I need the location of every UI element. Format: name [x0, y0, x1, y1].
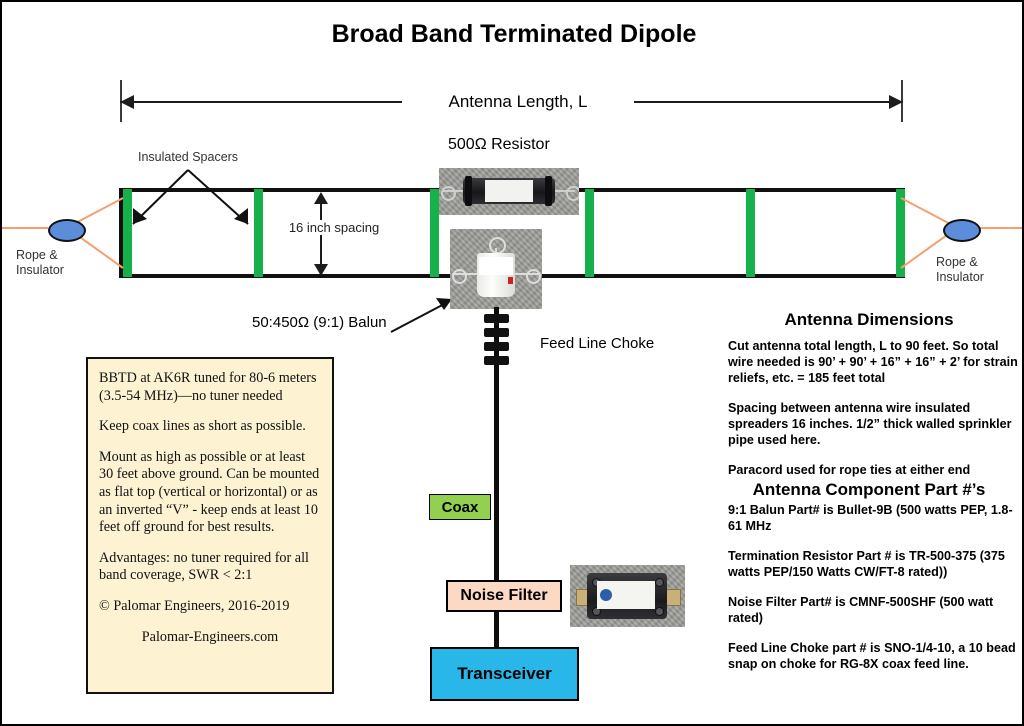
page-title: Broad Band Terminated Dipole: [2, 20, 1024, 49]
parts-paragraph-3: Noise Filter Part# is CMNF-500SHF (500 w…: [728, 594, 1020, 626]
choke-bead: [484, 342, 509, 351]
antenna-dimensions-body: Cut antenna total length, L to 90 feet. …: [728, 338, 1018, 492]
termination-resistor-photo: [439, 168, 579, 215]
note-paragraph-1: BBTD at AK6R tuned for 80-6 meters (3.5-…: [99, 370, 321, 405]
insulated-spacer: [585, 189, 594, 277]
rope-left-line2: Insulator: [16, 263, 64, 278]
noise-filter-photo: [570, 565, 685, 627]
insulated-spacer: [254, 189, 263, 277]
transceiver-box: Transceiver: [430, 647, 579, 701]
antenna-parts-heading: Antenna Component Part #’s: [724, 480, 1014, 500]
parts-paragraph-1: 9:1 Balun Part# is Bullet-9B (500 watts …: [728, 502, 1020, 534]
rope-insulator-right: [943, 219, 981, 242]
choke-bead: [484, 356, 509, 365]
choke-bead: [484, 328, 509, 337]
antenna-dimensions-heading: Antenna Dimensions: [724, 310, 1014, 330]
note-copyright: © Palomar Engineers, 2016-2019: [99, 598, 321, 616]
insulated-spacer: [896, 189, 905, 277]
insulated-spacer: [430, 189, 439, 277]
dimension-arrow-right-icon: [889, 95, 903, 109]
dimensions-paragraph-3: Paracord used for rope ties at either en…: [728, 462, 1018, 478]
insulated-spacer: [746, 189, 755, 277]
parts-paragraph-2: Termination Resistor Part # is TR-500-37…: [728, 548, 1020, 580]
insulated-spacer: [123, 189, 132, 277]
spacing-arrow-up-icon: [314, 192, 328, 204]
antenna-length-label: Antenna Length, L: [402, 92, 634, 112]
note-paragraph-4: Advantages: no tuner required for all ba…: [99, 550, 321, 585]
noise-filter-box: Noise Filter: [446, 580, 562, 612]
spacing-label: 16 inch spacing: [274, 220, 394, 235]
note-paragraph-2: Keep coax lines as short as possible.: [99, 418, 321, 436]
resistor-label: 500Ω Resistor: [448, 136, 550, 154]
dimensions-paragraph-1: Cut antenna total length, L to 90 feet. …: [728, 338, 1018, 386]
dimension-arrow-left-icon: [120, 95, 134, 109]
note-paragraph-3: Mount as high as possible or at least 30…: [99, 449, 321, 537]
insulated-spacers-label: Insulated Spacers: [138, 150, 238, 164]
choke-bead: [484, 314, 509, 323]
rope-insulator-label-right: Rope & Insulator: [936, 255, 984, 285]
rope-insulator-left: [48, 219, 86, 242]
balun-label: 50:450Ω (9:1) Balun: [252, 314, 387, 331]
diagram-canvas: Broad Band Terminated Dipole Antenna Len…: [0, 0, 1024, 726]
rope-left-line1: Rope &: [16, 248, 64, 263]
rope-right-line1: Rope &: [936, 255, 984, 270]
antenna-parts-body: 9:1 Balun Part# is Bullet-9B (500 watts …: [728, 502, 1020, 686]
note-website: Palomar-Engineers.com: [99, 629, 321, 647]
spacing-arrow-down-icon: [314, 264, 328, 276]
feed-line-choke-label: Feed Line Choke: [540, 335, 654, 352]
rope-insulator-label-left: Rope & Insulator: [16, 248, 64, 278]
coax-box: Coax: [429, 494, 491, 520]
parts-paragraph-4: Feed Line Choke part # is SNO-1/4-10, a …: [728, 640, 1020, 672]
balun-photo: [450, 229, 542, 309]
notes-box: BBTD at AK6R tuned for 80-6 meters (3.5-…: [86, 357, 334, 694]
rope-right-line2: Insulator: [936, 270, 984, 285]
dimensions-paragraph-2: Spacing between antenna wire insulated s…: [728, 400, 1018, 448]
